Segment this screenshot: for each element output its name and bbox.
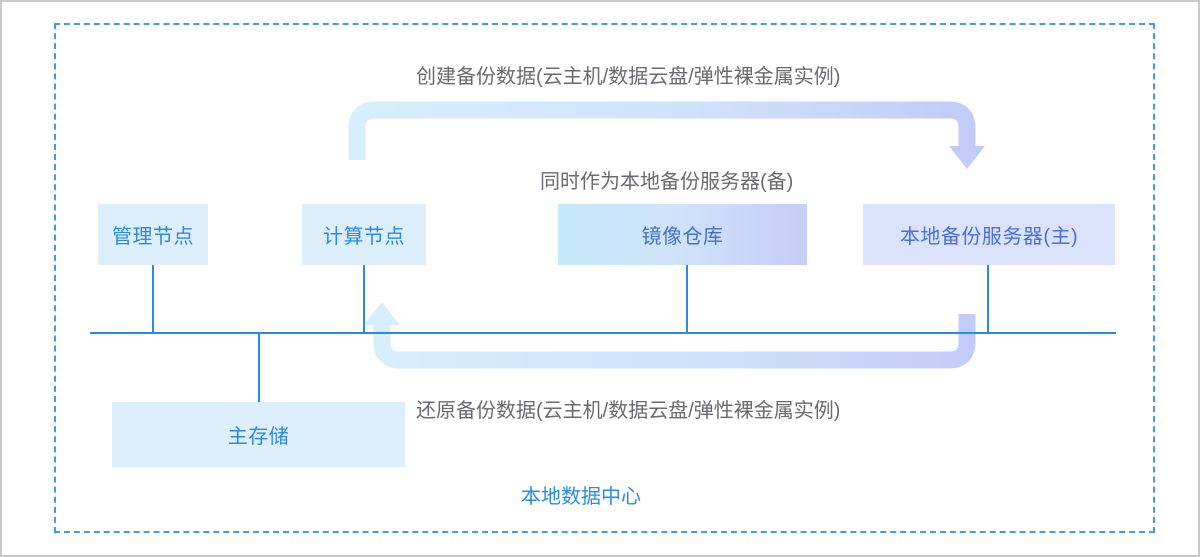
connector-mgmt-node [152,265,154,333]
label-standby-backup-server: 同时作为本地备份服务器(备) [540,165,793,194]
label-create-backup-flow: 创建备份数据(云主机/数据云盘/弹性裸金属实例) [416,60,840,89]
node-primary-storage[interactable]: 主存储 [112,402,405,467]
label-local-datacenter: 本地数据中心 [521,480,641,509]
node-compute-node[interactable]: 计算节点 [302,204,426,265]
node-management-node[interactable]: 管理节点 [98,204,208,265]
backbone-bus-line [90,332,1116,334]
connector-backup-server [987,265,989,333]
connector-image-repo [686,265,688,333]
connector-primary-storage [258,333,260,403]
label-restore-backup-flow: 还原备份数据(云主机/数据云盘/弹性裸金属实例) [416,394,840,423]
connector-compute-node [363,265,365,333]
node-image-repository[interactable]: 镜像仓库 [558,204,807,265]
diagram-canvas: 管理节点 计算节点 镜像仓库 本地备份服务器(主) 主存储 创建备份数据(云主机… [0,0,1200,557]
node-local-backup-server-primary[interactable]: 本地备份服务器(主) [863,204,1115,265]
